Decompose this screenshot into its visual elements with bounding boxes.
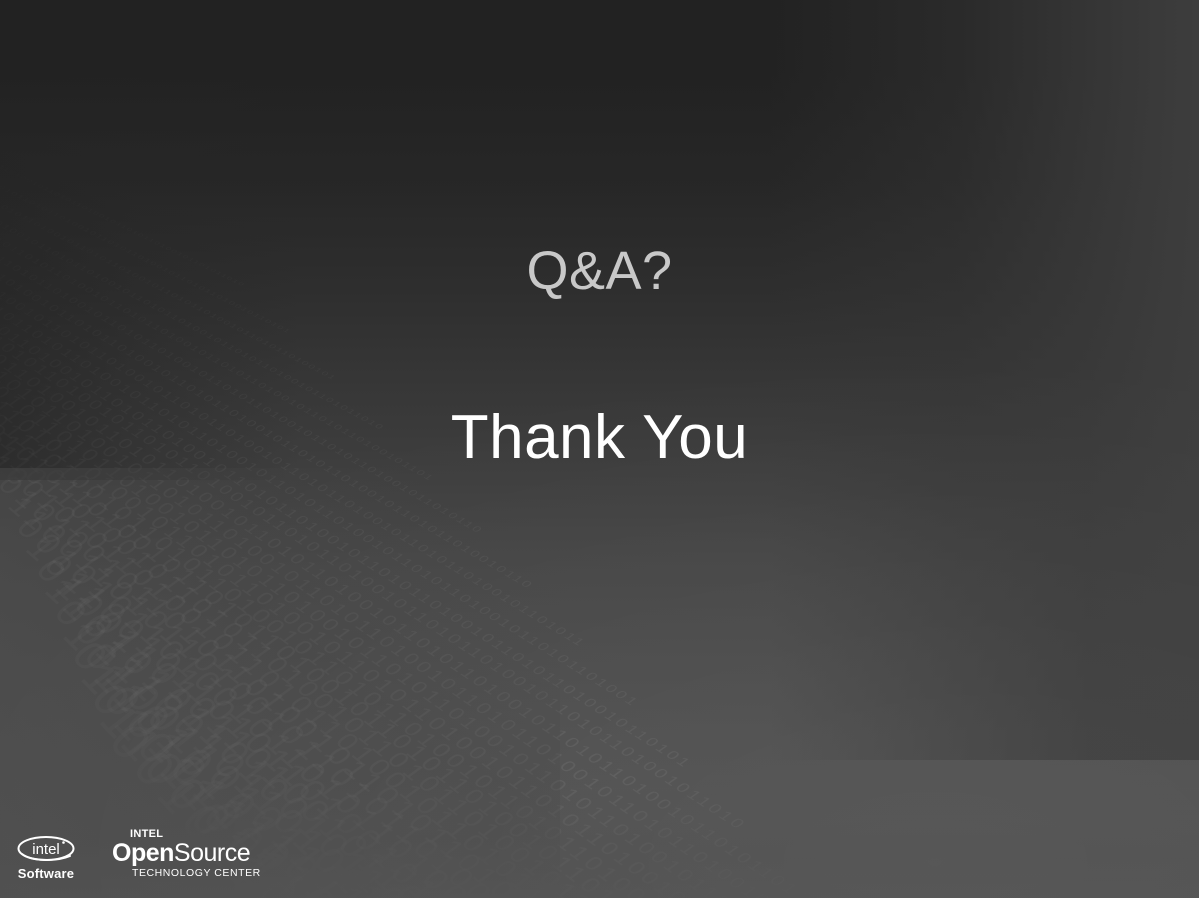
ostc-wordmark-source: Source <box>174 839 250 867</box>
slide-text-layer: Q&A? Thank You <box>0 0 1199 898</box>
intel-software-logo: intel Software <box>14 834 78 880</box>
intel-open-source-technology-center-logo: INTEL OpenSource TECHNOLOGY CENTER <box>112 829 252 879</box>
svg-text:intel: intel <box>32 841 60 858</box>
presentation-slide: 1010110101001011010110010101101011010010… <box>0 0 1199 898</box>
intel-software-tagline: Software <box>14 867 78 880</box>
ostc-logo-wordmark: OpenSource <box>112 841 252 866</box>
thank-you-heading: Thank You <box>0 405 1199 470</box>
ostc-wordmark-open: Open <box>112 839 174 867</box>
ostc-logo-subtitle: TECHNOLOGY CENTER <box>132 868 252 879</box>
intel-swoosh-icon: intel <box>16 834 76 863</box>
qa-heading: Q&A? <box>0 243 1199 300</box>
footer-logo-bar: intel Software INTEL OpenSource TECHNOLO… <box>0 788 1199 898</box>
